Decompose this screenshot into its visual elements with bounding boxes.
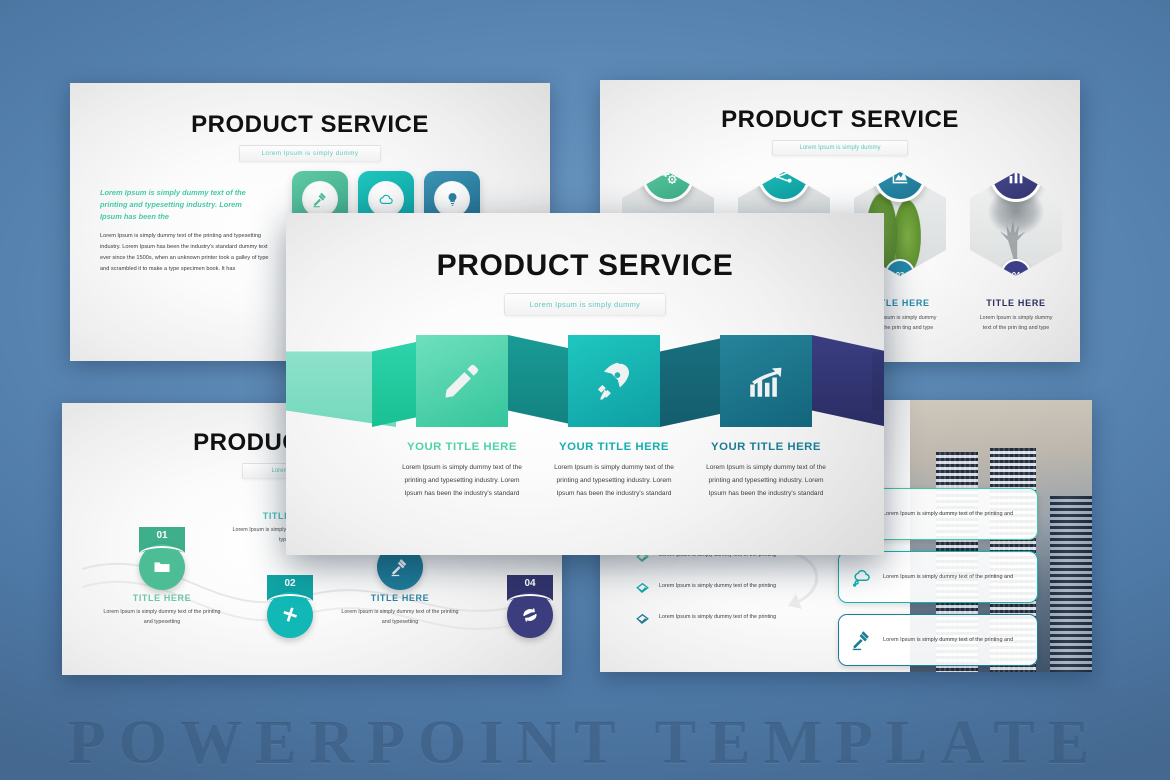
shield-badge-4[interactable]: 04 bbox=[502, 575, 558, 638]
center-column-3[interactable]: YOUR TITLE HERE Lorem Ipsum is simply du… bbox=[690, 441, 842, 501]
slide2-subtitle-pill: Lorem Ipsum is simply dummy bbox=[772, 140, 908, 156]
check-layers-icon bbox=[634, 612, 651, 629]
center-column-1[interactable]: YOUR TITLE HERE Lorem Ipsum is simply du… bbox=[386, 441, 538, 501]
refresh-icon bbox=[507, 592, 553, 638]
center-col-title-2: YOUR TITLE HERE bbox=[538, 441, 690, 453]
rocket-icon bbox=[593, 360, 635, 402]
slide1-title: PRODUCT SERVICE bbox=[70, 111, 550, 139]
hex-body-4: Lorem Ipsum is simply dummy text of the … bbox=[960, 313, 1072, 333]
center-col-body-3: Lorem Ipsum is simply dummy text of the … bbox=[690, 462, 842, 501]
slide2-title: PRODUCT SERVICE bbox=[600, 106, 1080, 134]
pencil-icon bbox=[441, 360, 483, 402]
hex-title-4: TITLE HERE bbox=[960, 298, 1072, 308]
shield-text-1: TITLE HERE Lorem Ipsum is simply dummy t… bbox=[102, 593, 222, 627]
cloud-icon bbox=[368, 181, 404, 217]
shield-title-3: TITLE HERE bbox=[340, 593, 460, 603]
slide-center-featured[interactable]: PRODUCT SERVICE Lorem Ipsum is simply du… bbox=[286, 213, 884, 555]
shield-badge-1[interactable]: 01 bbox=[134, 527, 190, 590]
area-chart-icon bbox=[874, 172, 926, 202]
shield-body-3: Lorem Ipsum is simply dummy text of the … bbox=[340, 607, 460, 627]
hex-shape-4-tree-photo: 04 bbox=[970, 172, 1062, 276]
slide4-card-2[interactable]: Lorem Ipsum is simply dummy text of the … bbox=[838, 551, 1038, 603]
lightbulb-icon bbox=[434, 181, 470, 217]
center-col-body-1: Lorem Ipsum is simply dummy text of the … bbox=[386, 462, 538, 501]
network-icon bbox=[758, 172, 810, 202]
slide1-subtitle-pill: Lorem Ipsum is simply dummy bbox=[239, 145, 381, 162]
slide4-checklist: Lorem Ipsum is simply dummy text of the … bbox=[634, 550, 809, 643]
slide1-body-text: Lorem Ipsum is simply dummy text of the … bbox=[100, 231, 275, 275]
checklist-row-2[interactable]: Lorem Ipsum is simply dummy text of the … bbox=[634, 581, 809, 598]
center-title: PRODUCT SERVICE bbox=[286, 249, 884, 283]
gears-icon bbox=[642, 172, 694, 202]
bar-chart-icon bbox=[990, 172, 1042, 202]
tower-far-right bbox=[1050, 496, 1092, 672]
slide1-lead-text: Lorem Ipsum is simply dummy text of the … bbox=[100, 187, 260, 223]
gavel-icon bbox=[302, 181, 338, 217]
poster-stage: PRODUCT SERVICE Lorem Ipsum is simply du… bbox=[0, 0, 1170, 780]
center-col-body-2: Lorem Ipsum is simply dummy text of the … bbox=[538, 462, 690, 501]
checklist-row-3[interactable]: Lorem Ipsum is simply dummy text of the … bbox=[634, 612, 809, 629]
folder-icon bbox=[139, 544, 185, 590]
center-col-title-1: YOUR TITLE HERE bbox=[386, 441, 538, 453]
hex-number-3: 03 bbox=[885, 259, 915, 276]
slide4-card-text-3: Lorem Ipsum is simply dummy text of the … bbox=[883, 635, 1013, 646]
ribbon-block-2[interactable] bbox=[568, 335, 660, 427]
ribbon-block-3[interactable] bbox=[720, 335, 812, 427]
slide4-card-text-2: Lorem Ipsum is simply dummy text of the … bbox=[883, 572, 1013, 583]
shield-badge-2[interactable]: 02 bbox=[262, 575, 318, 638]
center-column-2[interactable]: YOUR TITLE HERE Lorem Ipsum is simply du… bbox=[538, 441, 690, 501]
gavel-icon bbox=[851, 629, 873, 651]
hex-item-4[interactable]: 04 TITLE HERE Lorem Ipsum is simply dumm… bbox=[960, 172, 1072, 333]
checklist-text-3: Lorem Ipsum is simply dummy text of the … bbox=[659, 612, 776, 623]
medical-icon bbox=[267, 592, 313, 638]
cloud-icon bbox=[851, 566, 873, 588]
shield-title-1: TITLE HERE bbox=[102, 593, 222, 603]
center-ribbon bbox=[286, 335, 884, 427]
check-layers-icon bbox=[634, 581, 651, 598]
checklist-text-2: Lorem Ipsum is simply dummy text of the … bbox=[659, 581, 776, 592]
center-columns: YOUR TITLE HERE Lorem Ipsum is simply du… bbox=[386, 441, 884, 501]
center-subtitle-pill: Lorem Ipsum is simply dummy bbox=[504, 293, 666, 316]
poster-watermark: POWERPOINT TEMPLATE bbox=[0, 712, 1170, 774]
ribbon-block-1[interactable] bbox=[416, 335, 508, 427]
shield-text-3: TITLE HERE Lorem Ipsum is simply dummy t… bbox=[340, 593, 460, 627]
slide4-card-text-1: Lorem Ipsum is simply dummy text of the … bbox=[883, 509, 1013, 520]
slide4-card-3[interactable]: Lorem Ipsum is simply dummy text of the … bbox=[838, 614, 1038, 666]
shield-body-1: Lorem Ipsum is simply dummy text of the … bbox=[102, 607, 222, 627]
center-col-title-3: YOUR TITLE HERE bbox=[690, 441, 842, 453]
growth-chart-icon bbox=[745, 360, 787, 402]
